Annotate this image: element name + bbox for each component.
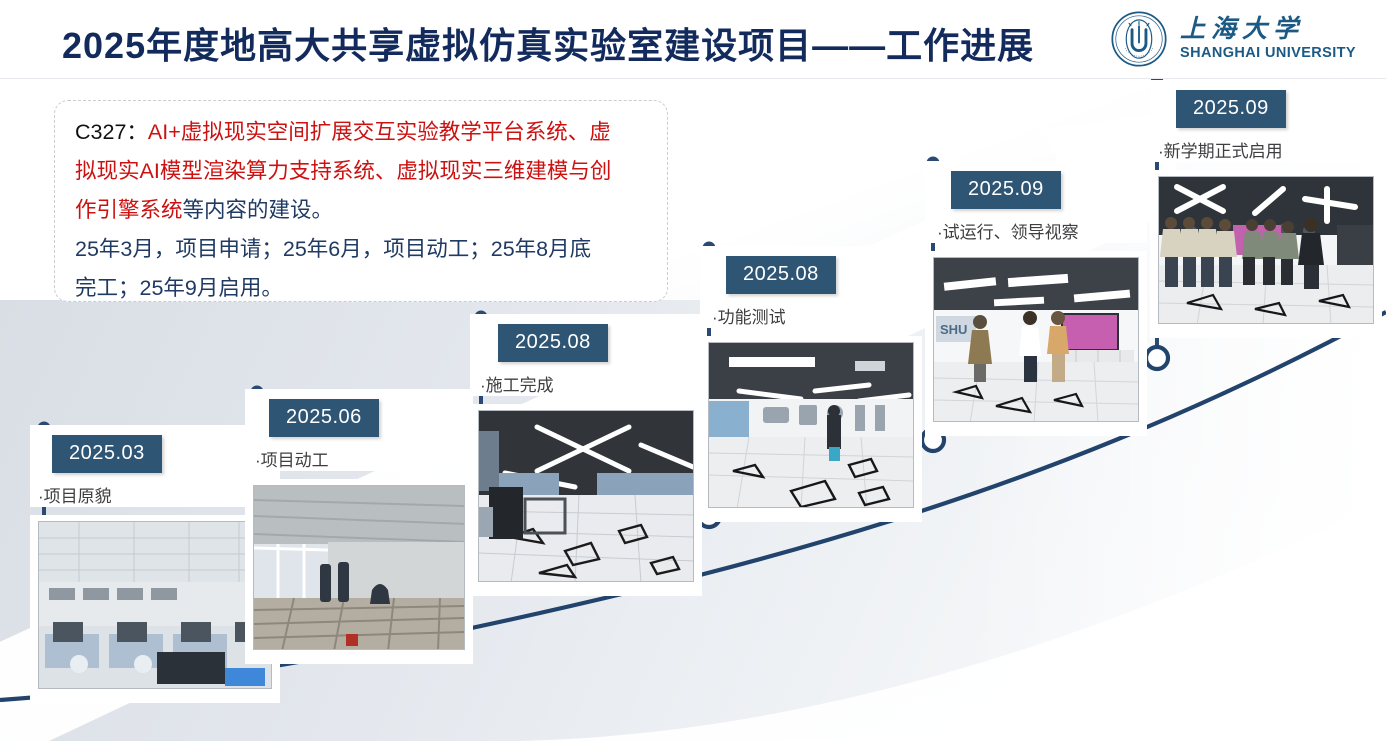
milestone-photo-6	[1158, 176, 1374, 324]
milestone-caption-1: ·项目原貌	[38, 482, 270, 507]
milestone-photo-2	[253, 485, 465, 650]
milestone-card-2[interactable]: 2025.06 ·项目动工	[245, 389, 473, 664]
milestone-caption-4: ·功能测试	[712, 303, 912, 328]
shu-university-emblem-icon	[1110, 10, 1168, 68]
milestone-card-5[interactable]: 2025.09 ·试运行、领导视察 SHU	[925, 161, 1147, 436]
milestone-card-6[interactable]: 2025.09 ·新学期正式启用	[1150, 80, 1382, 338]
page-title: 2025年度地高大共享虚拟仿真实验室建设项目——工作进展	[62, 17, 1034, 69]
milestone-photo-4	[708, 342, 914, 508]
desc-dark-3: 等内容的建设。	[183, 198, 334, 222]
milestone-caption-3: ·施工完成	[480, 371, 692, 396]
desc-red-2: 拟现实AI模型渲染算力支持系统、虚拟现实三维建模与创	[75, 159, 611, 183]
milestone-date-badge-2: 2025.06	[269, 399, 379, 437]
desc-line-3: 作引擎系统等内容的建设。	[75, 191, 647, 230]
milestone-date-badge-5: 2025.09	[951, 171, 1061, 209]
milestone-card-1[interactable]: 2025.03 ·项目原貌	[30, 425, 280, 703]
svg-text:SHU: SHU	[940, 322, 967, 337]
desc-line-2: 拟现实AI模型渲染算力支持系统、虚拟现实三维建模与创	[75, 152, 647, 191]
desc-red-1: AI+虚拟现实空间扩展交互实验教学平台系统、虚	[148, 120, 611, 144]
desc-line-1: C327：AI+虚拟现实空间扩展交互实验教学平台系统、虚	[75, 113, 647, 152]
slide-header: 2025年度地高大共享虚拟仿真实验室建设项目——工作进展 上海大学 SHANGH…	[0, 0, 1386, 78]
logo-name-en: SHANGHAI UNIVERSITY	[1180, 46, 1356, 61]
desc-red-3: 作引擎系统	[75, 198, 183, 222]
milestone-caption-5: ·试运行、领导视察	[937, 218, 1137, 243]
milestone-photo-3	[478, 410, 694, 582]
milestone-date-badge-3: 2025.08	[498, 324, 608, 362]
logo-name-cn: 上海大学	[1180, 17, 1356, 42]
milestone-card-4[interactable]: 2025.08 ·功能测试	[700, 246, 922, 522]
milestone-card-3[interactable]: 2025.08 ·施工完成	[470, 314, 702, 596]
desc-line-4: 25年3月，项目申请；25年6月，项目动工；25年8月底	[75, 230, 647, 269]
project-description-box: C327：AI+虚拟现实空间扩展交互实验教学平台系统、虚 拟现实AI模型渲染算力…	[54, 100, 668, 302]
milestone-photo-1	[38, 521, 272, 689]
desc-line-5: 完工；25年9月启用。	[75, 269, 647, 308]
milestone-date-badge-1: 2025.03	[52, 435, 162, 473]
desc-code: C327：	[75, 120, 148, 144]
university-logo: 上海大学 SHANGHAI UNIVERSITY	[1110, 10, 1356, 68]
milestone-caption-6: ·新学期正式启用	[1158, 137, 1372, 162]
milestone-photo-5: SHU	[933, 257, 1139, 422]
milestone-date-badge-6: 2025.09	[1176, 90, 1286, 128]
milestone-caption-2: ·项目动工	[255, 446, 463, 471]
slide-canvas: 2025年度地高大共享虚拟仿真实验室建设项目——工作进展 上海大学 SHANGH…	[0, 0, 1386, 741]
milestone-date-badge-4: 2025.08	[726, 256, 836, 294]
